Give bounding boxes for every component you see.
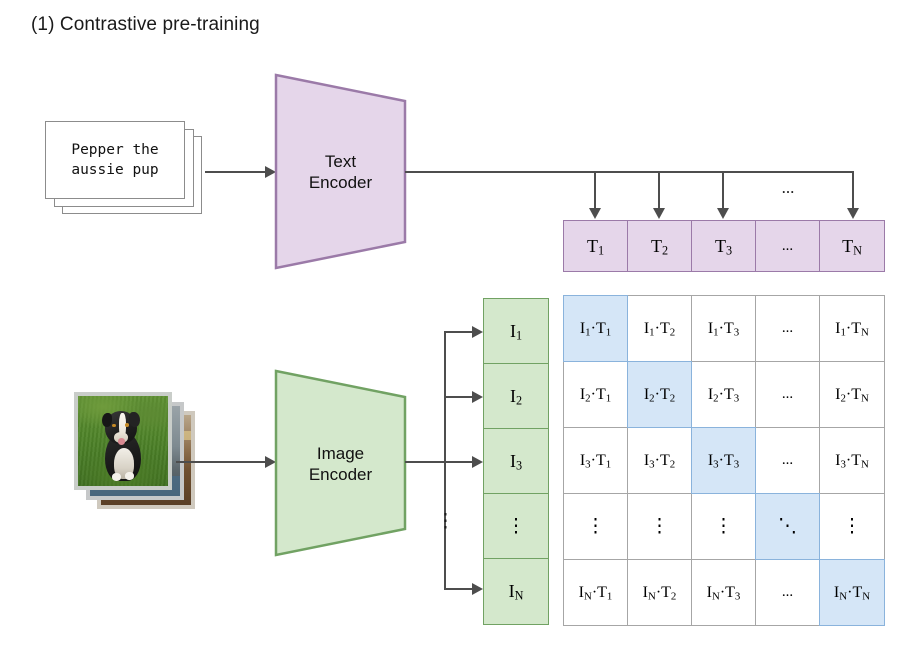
text-encoder-shape[interactable]: Text Encoder xyxy=(274,73,407,270)
matrix-cell-label: I1·T3 xyxy=(708,320,739,338)
text-embedding-label-1: T1 xyxy=(587,236,604,257)
matrix-cell-label: I2·TN xyxy=(835,386,869,404)
matrix-cell-r1-c5[interactable]: I1·TN xyxy=(819,295,885,362)
matrix-cell-label: ⋮ xyxy=(843,515,862,538)
matrix-cell-label: IN·T2 xyxy=(643,584,677,602)
image-embedding-label-2: I2 xyxy=(510,386,522,407)
matrix-cell-label: ... xyxy=(782,320,793,337)
image-embedding-cell-3[interactable]: I3 xyxy=(483,428,549,494)
matrix-cell-label: ... xyxy=(782,386,793,403)
matrix-cell-r2-c3[interactable]: I2·T3 xyxy=(691,361,756,428)
matrix-cell-label: ⋮ xyxy=(714,515,733,538)
text-drop-n xyxy=(852,171,854,211)
text-embedding-cell-3[interactable]: T3 xyxy=(691,220,756,272)
matrix-cell-label: I2·T1 xyxy=(580,386,611,404)
matrix-cell-label: I3·T2 xyxy=(644,452,675,470)
text-embedding-label-3: T3 xyxy=(715,236,732,257)
matrix-cell-r3-c4[interactable]: ... xyxy=(755,427,820,494)
matrix-cell-r1-c1[interactable]: I1·T1 xyxy=(563,295,628,362)
image-embedding-bus xyxy=(405,461,446,463)
image-arrowhead-1 xyxy=(472,326,483,338)
image-encoder-shape[interactable]: Image Encoder xyxy=(274,369,407,557)
matrix-cell-r2-c2[interactable]: I2·T2 xyxy=(627,361,692,428)
text-embedding-cell-1[interactable]: T1 xyxy=(563,220,628,272)
matrix-cell-r5-c3[interactable]: IN·T3 xyxy=(691,559,756,626)
matrix-cell-r2-c5[interactable]: I2·TN xyxy=(819,361,885,428)
image-encoder-polygon xyxy=(274,369,407,557)
matrix-cell-label: IN·T1 xyxy=(579,584,613,602)
matrix-cell-label: IN·TN xyxy=(834,584,870,602)
matrix-cell-r3-c2[interactable]: I3·T2 xyxy=(627,427,692,494)
matrix-cell-r1-c4[interactable]: ... xyxy=(755,295,820,362)
text-embedding-cell-ellipsis[interactable]: ... xyxy=(755,220,820,272)
matrix-cell-label: ... xyxy=(782,584,793,601)
image-arrowhead-2 xyxy=(472,391,483,403)
text-drop-3 xyxy=(722,171,724,211)
image-arrowhead-n xyxy=(472,583,483,595)
matrix-cell-r4-c2[interactable]: ⋮ xyxy=(627,493,692,560)
text-input-connector xyxy=(205,171,267,173)
matrix-cell-label: ⋮ xyxy=(650,515,669,538)
image-embedding-cell-1[interactable]: I1 xyxy=(483,298,549,364)
matrix-cell-r3-c3[interactable]: I3·T3 xyxy=(691,427,756,494)
matrix-cell-label: ... xyxy=(782,452,793,469)
image-bus-trunk xyxy=(444,331,446,589)
text-caption: Pepper the aussie pup xyxy=(45,121,185,199)
image-embedding-cell-ellipsis[interactable]: ⋮ xyxy=(483,493,549,559)
text-arrowhead-2 xyxy=(653,208,665,219)
matrix-cell-label: I1·T2 xyxy=(644,320,675,338)
matrix-cell-r5-c1[interactable]: IN·T1 xyxy=(563,559,628,626)
text-embedding-cell-2[interactable]: T2 xyxy=(627,220,692,272)
diagram-canvas: (1) Contrastive pre-training Pepper the … xyxy=(0,0,906,654)
matrix-cell-r2-c1[interactable]: I2·T1 xyxy=(563,361,628,428)
image-embedding-label-3: I3 xyxy=(510,451,522,472)
matrix-cell-label: ⋱ xyxy=(778,515,797,538)
image-input-connector xyxy=(176,461,267,463)
text-encoder-polygon xyxy=(274,73,407,270)
matrix-cell-r3-c5[interactable]: I3·TN xyxy=(819,427,885,494)
photo-dog-eye-right xyxy=(125,423,129,427)
matrix-cell-r1-c2[interactable]: I1·T2 xyxy=(627,295,692,362)
image-bus-ellipsis: ⋮ xyxy=(436,512,454,531)
text-embedding-label-2: T2 xyxy=(651,236,668,257)
matrix-cell-label: I1·TN xyxy=(835,320,869,338)
matrix-cell-r5-c5[interactable]: IN·TN xyxy=(819,559,885,626)
image-embedding-label-1: I1 xyxy=(510,321,522,342)
image-arrowhead-3 xyxy=(472,456,483,468)
matrix-cell-r4-c5[interactable]: ⋮ xyxy=(819,493,885,560)
matrix-cell-r3-c1[interactable]: I3·T1 xyxy=(563,427,628,494)
image-embedding-cell-2[interactable]: I2 xyxy=(483,363,549,429)
matrix-cell-label: I2·T3 xyxy=(708,386,739,404)
image-embedding-label-ellipsis: ⋮ xyxy=(507,515,526,538)
matrix-cell-label: I2·T2 xyxy=(644,386,675,404)
photo-dog-tongue xyxy=(118,438,125,444)
text-arrowhead-1 xyxy=(589,208,601,219)
matrix-cell-label: ⋮ xyxy=(586,515,605,538)
matrix-cell-label: I3·TN xyxy=(835,452,869,470)
matrix-cell-r4-c4[interactable]: ⋱ xyxy=(755,493,820,560)
image-embedding-cell-n[interactable]: IN xyxy=(483,558,549,625)
text-bus-ellipsis: ... xyxy=(756,178,820,198)
image-embedding-label-n: IN xyxy=(509,581,524,602)
text-arrowhead-n xyxy=(847,208,859,219)
matrix-cell-r2-c4[interactable]: ... xyxy=(755,361,820,428)
matrix-cell-r1-c3[interactable]: I1·T3 xyxy=(691,295,756,362)
matrix-cell-r5-c4[interactable]: ... xyxy=(755,559,820,626)
text-embedding-bus xyxy=(405,171,854,173)
image-card-front-dog-photo xyxy=(74,392,172,490)
text-arrowhead-3 xyxy=(717,208,729,219)
matrix-cell-label: I3·T1 xyxy=(580,452,611,470)
photo-dog-paw-right xyxy=(125,472,134,480)
matrix-cell-label: IN·T3 xyxy=(707,584,741,602)
text-embedding-label-n: TN xyxy=(842,236,862,257)
matrix-cell-r5-c2[interactable]: IN·T2 xyxy=(627,559,692,626)
text-drop-2 xyxy=(658,171,660,211)
matrix-cell-label: I3·T3 xyxy=(708,452,739,470)
matrix-cell-r4-c3[interactable]: ⋮ xyxy=(691,493,756,560)
text-embedding-label-ellipsis: ... xyxy=(782,238,793,255)
matrix-cell-label: I1·T1 xyxy=(580,320,611,338)
photo-dog-ear-right xyxy=(129,412,140,427)
page-title: (1) Contrastive pre-training xyxy=(31,14,260,36)
matrix-cell-r4-c1[interactable]: ⋮ xyxy=(563,493,628,560)
text-drop-1 xyxy=(594,171,596,211)
text-embedding-cell-n[interactable]: TN xyxy=(819,220,885,272)
